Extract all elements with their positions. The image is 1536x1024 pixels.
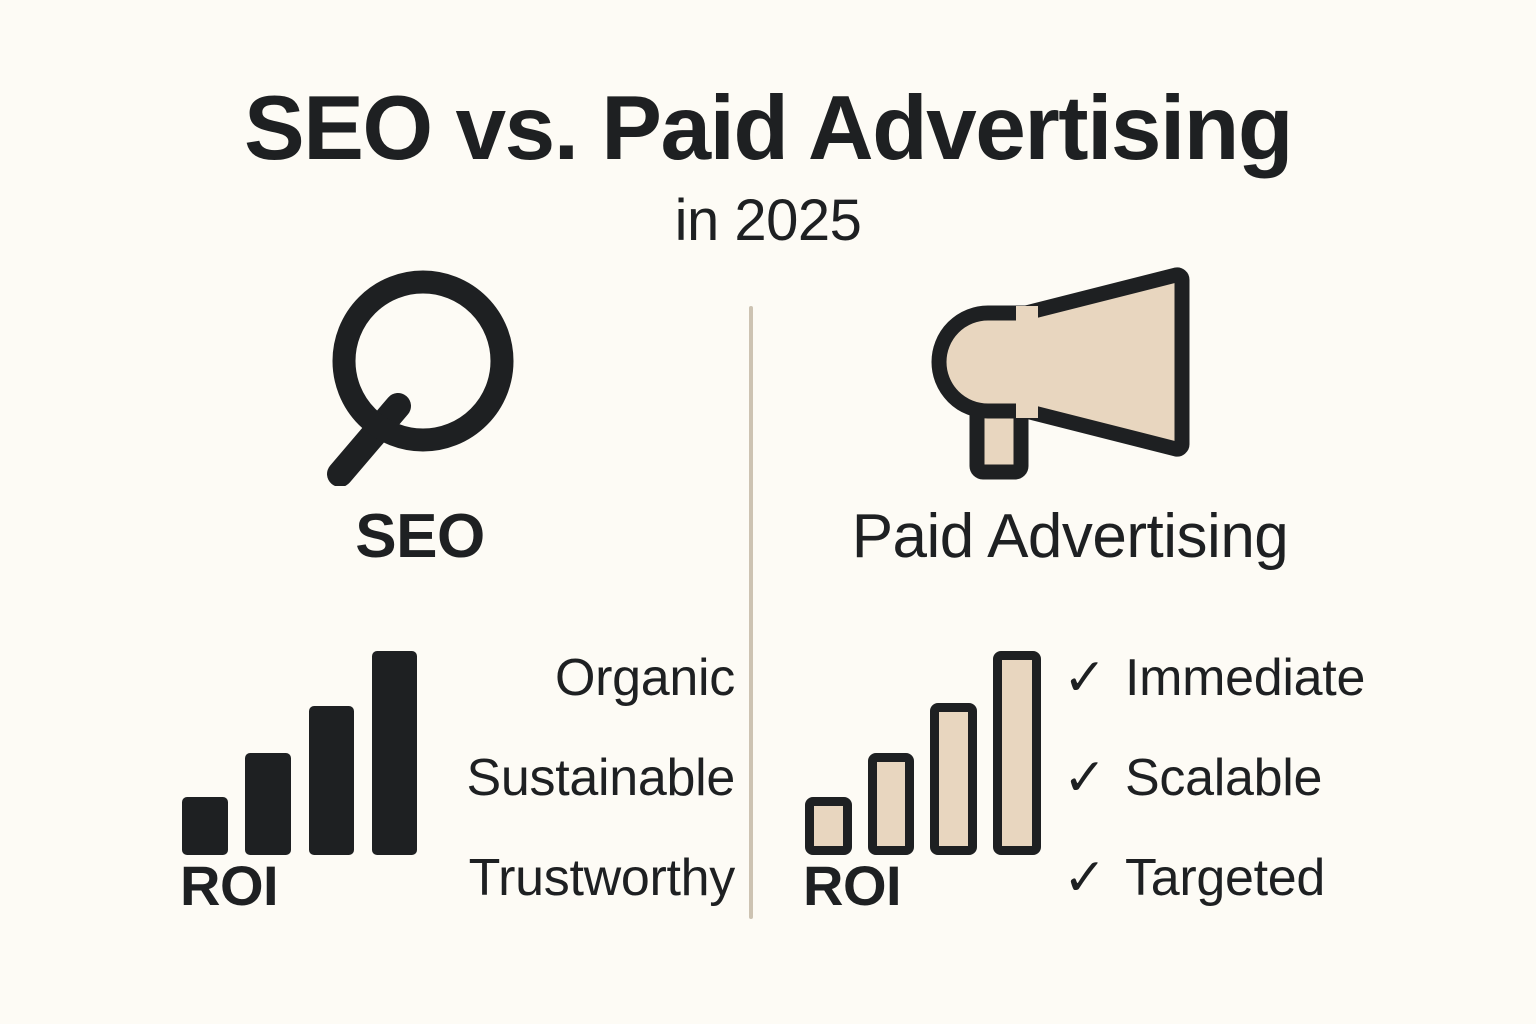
list-item: Organic — [555, 628, 735, 728]
list-item: ✓ Targeted — [1063, 828, 1325, 928]
bar-paid-2 — [868, 753, 914, 855]
megaphone-icon — [930, 262, 1190, 482]
column-label-seo: SEO — [260, 503, 580, 571]
bar-seo-3 — [309, 706, 354, 855]
benefit-text: Trustworthy — [469, 852, 735, 904]
bar-paid-4 — [993, 651, 1041, 855]
benefit-list-paid: ✓ Immediate ✓ Scalable ✓ Targeted — [1063, 628, 1483, 928]
page-title: SEO vs. Paid Advertising — [0, 83, 1536, 174]
roi-label-seo: ROI — [180, 858, 278, 914]
roi-bar-chart-seo — [180, 640, 425, 855]
page-subtitle: in 2025 — [0, 192, 1536, 250]
bar-seo-1 — [182, 797, 228, 855]
list-item: Trustworthy — [469, 828, 735, 928]
benefit-list-seo: Organic Sustainable Trustworthy — [400, 628, 735, 928]
magnifying-glass-icon — [318, 266, 538, 486]
benefit-text: Targeted — [1125, 852, 1325, 904]
check-icon: ✓ — [1063, 652, 1113, 704]
benefit-text: Immediate — [1125, 652, 1365, 704]
bar-seo-2 — [245, 753, 291, 855]
check-icon: ✓ — [1063, 852, 1113, 904]
infographic-canvas: SEO vs. Paid Advertising in 2025 SEO ROI… — [0, 0, 1536, 1024]
benefit-text: Organic — [555, 652, 735, 704]
roi-label-paid: ROI — [803, 858, 901, 914]
bar-paid-1 — [805, 797, 852, 855]
column-label-paid: Paid Advertising — [790, 503, 1350, 571]
roi-bar-chart-paid — [803, 640, 1048, 855]
check-icon: ✓ — [1063, 752, 1113, 804]
list-item: ✓ Scalable — [1063, 728, 1322, 828]
list-item: ✓ Immediate — [1063, 628, 1365, 728]
benefit-text: Scalable — [1125, 752, 1322, 804]
benefit-text: Sustainable — [467, 752, 735, 804]
bar-paid-3 — [930, 703, 977, 855]
list-item: Sustainable — [467, 728, 735, 828]
column-divider — [749, 306, 753, 919]
